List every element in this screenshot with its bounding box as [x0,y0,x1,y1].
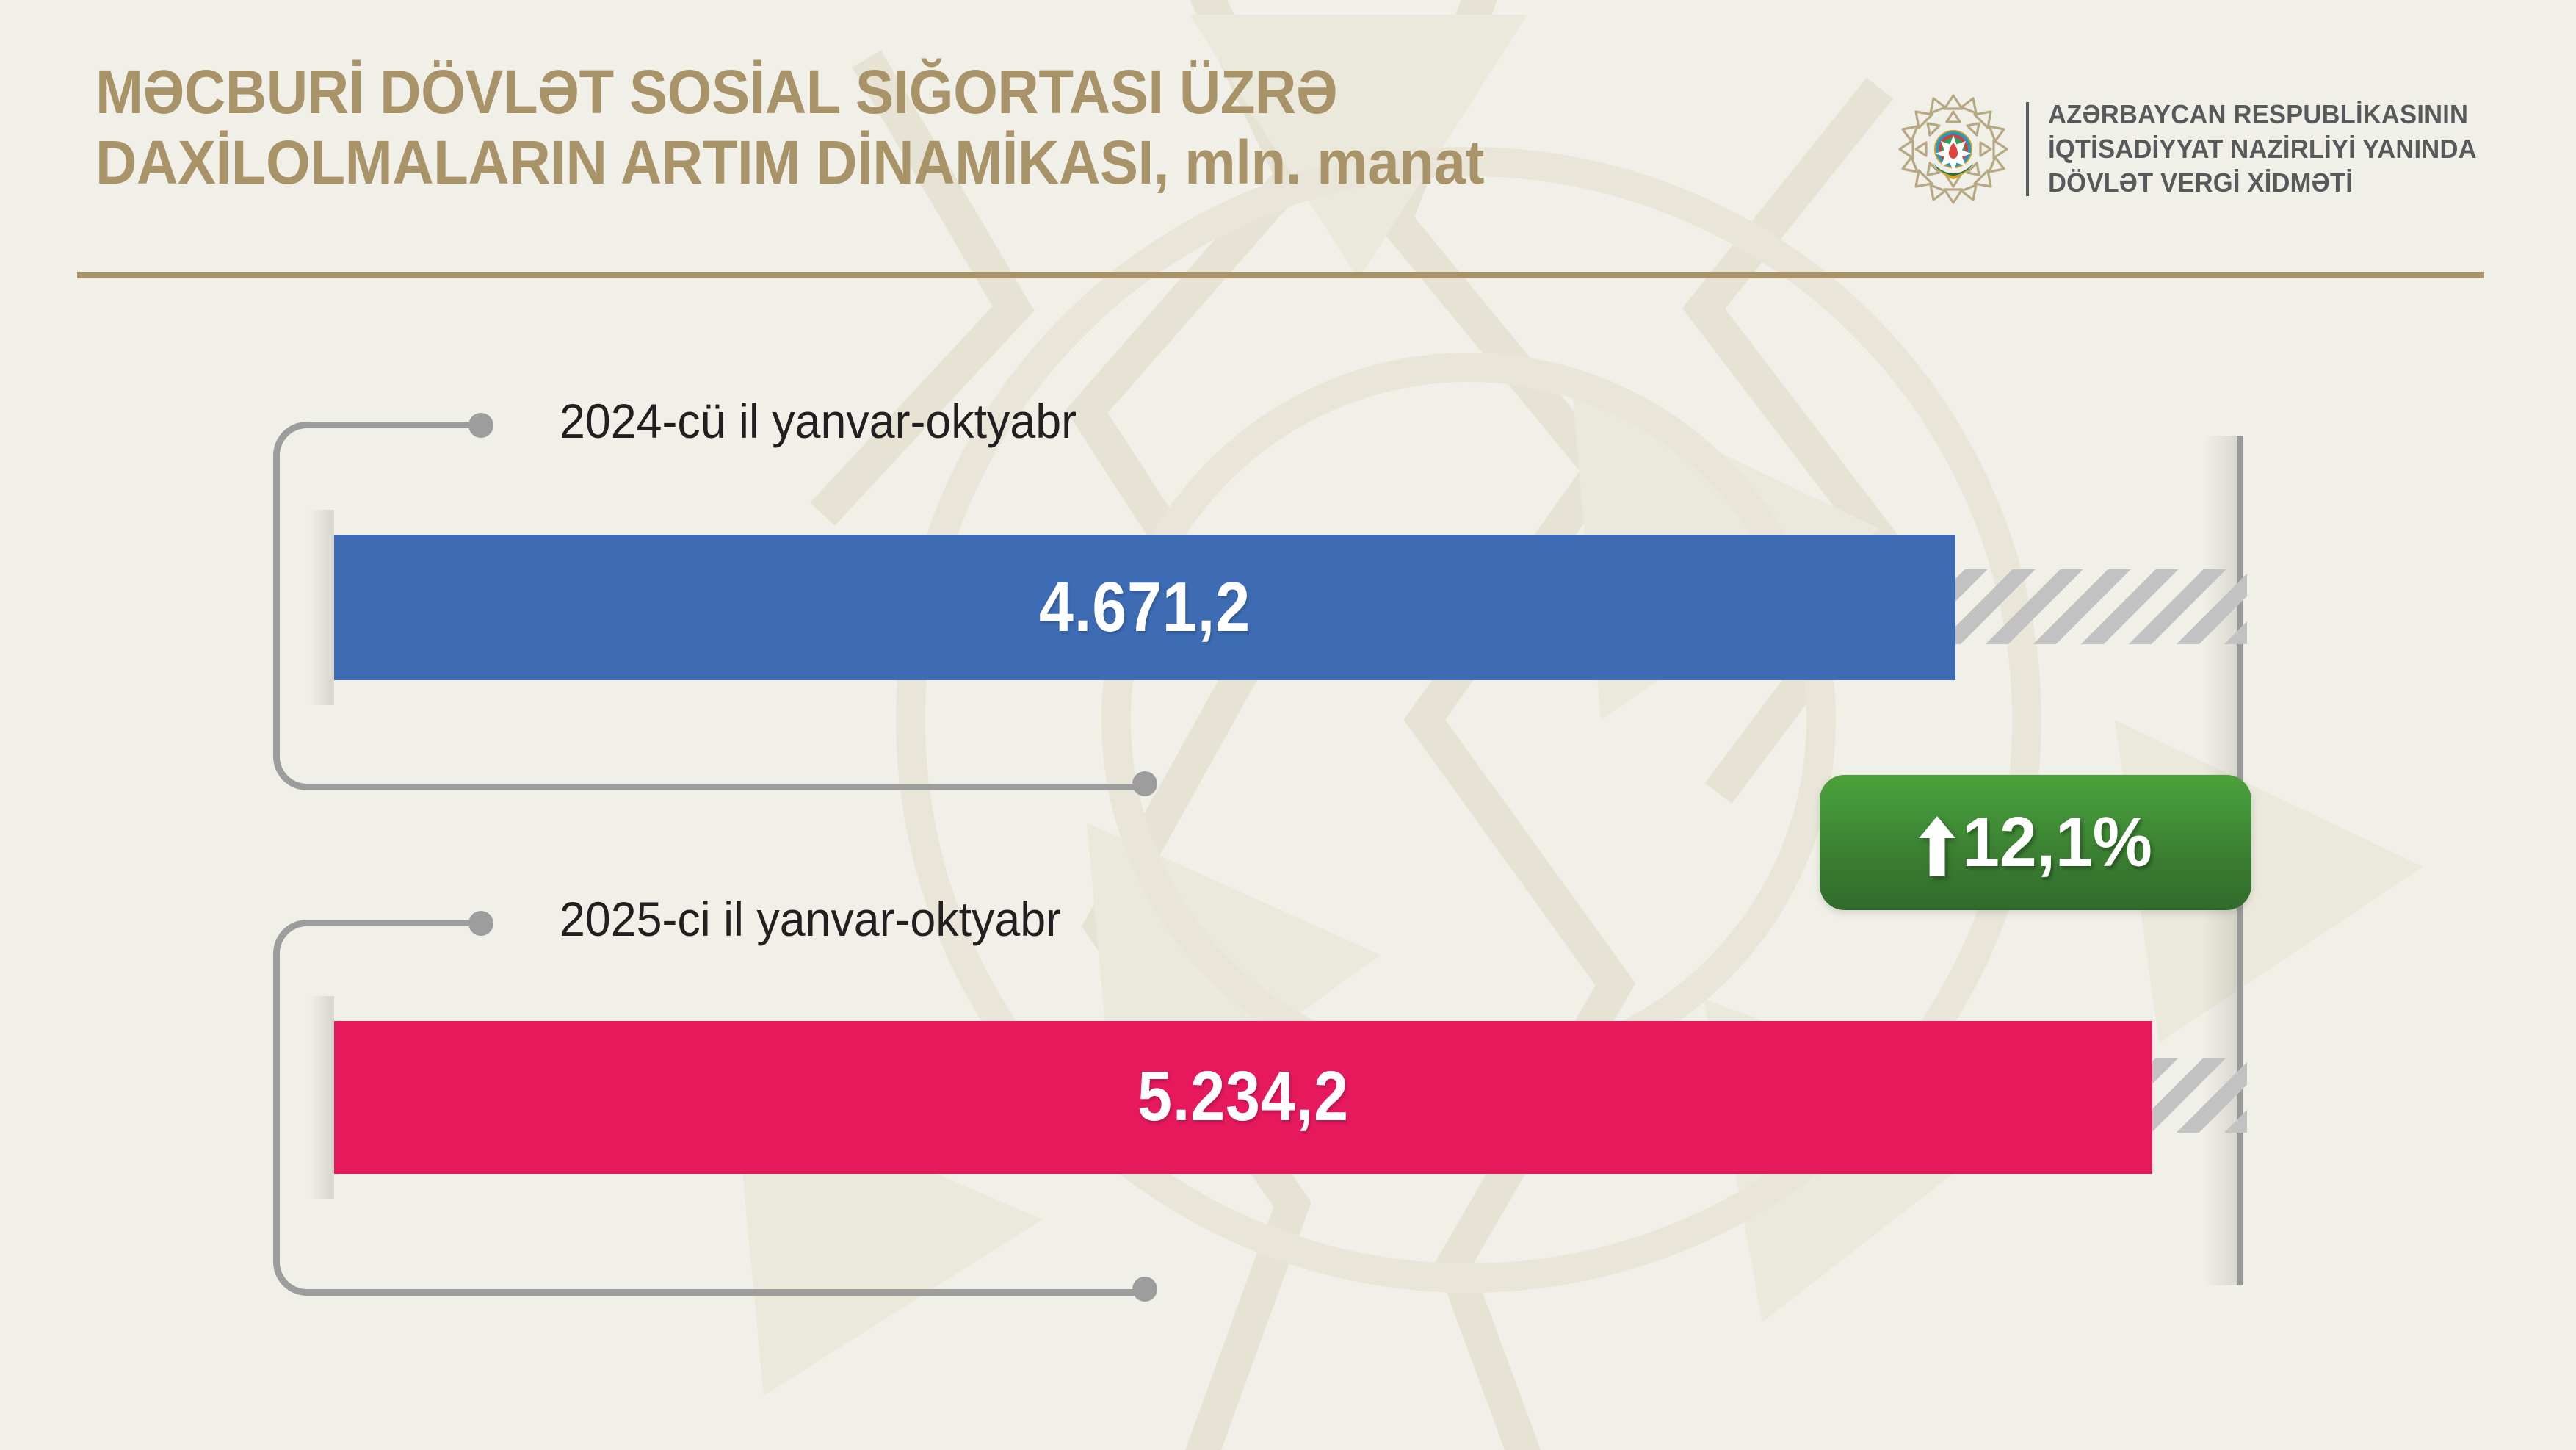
header-divider [77,272,2484,278]
bar-2024: 4.671,2 [334,535,1955,680]
bar-value-2025: 5.234,2 [444,1056,2044,1137]
logo-separator [2026,102,2029,196]
infographic-canvas: MƏCBURİ DÖVLƏT SOSİAL SIĞORTASI ÜZRƏ DAX… [0,0,2576,1450]
page-title: MƏCBURİ DÖVLƏT SOSİAL SIĞORTASI ÜZRƏ DAX… [95,57,1784,198]
org-line-1: AZƏRBAYCAN RESPUBLİKASININ [2048,98,2477,132]
bar-extension-hatch-2025 [2150,1058,2247,1133]
connector-stem-2025-top [402,920,476,926]
organization-logo: AZƏRBAYCAN RESPUBLİKASININ İQTİSADİYYAT … [1891,87,2494,212]
azerbaijan-state-tax-service-emblem [1891,87,2016,212]
connector-stem-2025-bottom [402,1289,1144,1296]
growth-badge-content: 12,1% [1919,802,2152,883]
org-line-3: DÖVLƏT VERGİ XİDMƏTİ [2048,166,2477,201]
category-label-2025: 2025-ci il yanvar-oktyabr [560,891,1061,947]
growth-value: 12,1% [1962,802,2152,883]
title-line-2: DAXİLOLMALARIN ARTIM DİNAMİKASI, mln. ma… [95,128,1666,198]
connector-stem-2024-top [402,422,476,428]
title-line-1: MƏCBURİ DÖVLƏT SOSİAL SIĞORTASI ÜZRƏ [95,57,1666,128]
bar-extension-hatch-2024 [1953,569,2247,644]
org-line-2: İQTİSADİYYAT NAZİRLİYİ YANINDA [2048,132,2477,167]
organization-name: AZƏRBAYCAN RESPUBLİKASININ İQTİSADİYYAT … [2048,98,2477,201]
bar-2025: 5.234,2 [334,1021,2152,1174]
arrow-up-icon [1919,812,1955,873]
category-label-2024: 2024-cü il yanvar-oktyabr [560,393,1077,449]
connector-stem-2024-bottom [402,784,1144,790]
bar-value-2024: 4.671,2 [431,567,1858,648]
growth-badge: 12,1% [1820,775,2251,910]
